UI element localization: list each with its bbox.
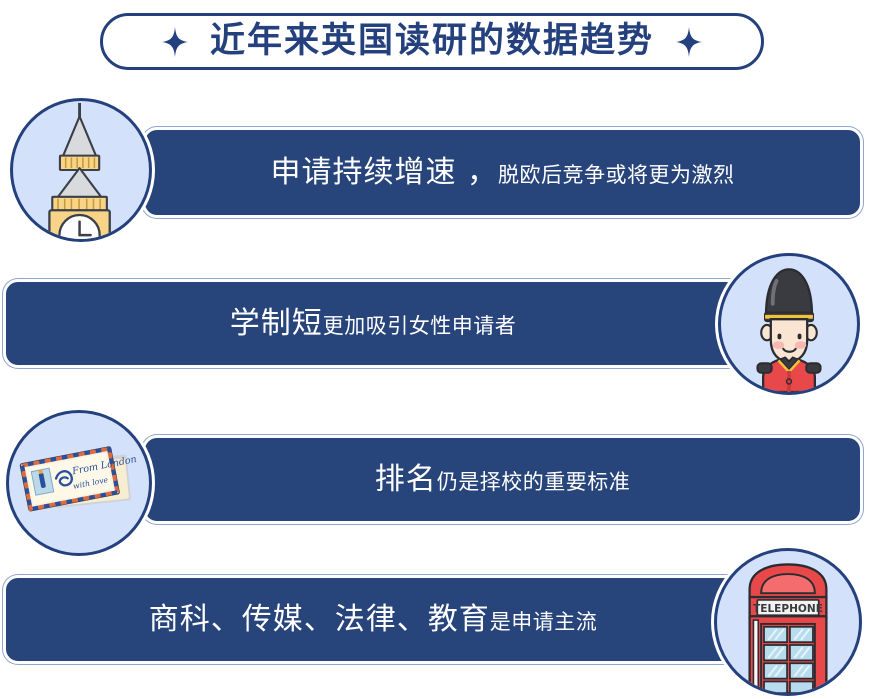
info-bar-subtext: 仍是择校的重要标准 [437, 472, 631, 493]
info-bar: 排名 仍是择校的重要标准 [145, 438, 860, 521]
info-bar: 申请持续增速 ， 脱欧后竞争或将更为激烈 [145, 130, 860, 215]
info-bar-text: 学制短 更加吸引女性申请者 [230, 309, 517, 339]
info-row: 商科、传媒、法律、教育 是申请主流 TELEPHONE [0, 548, 870, 699]
info-row: 学制短 更加吸引女性申请者 [0, 253, 870, 395]
page-title: 近年来英国读研的数据趋势 [210, 24, 654, 59]
telephone-booth-icon: TELEPHONE [714, 548, 862, 696]
info-row: 申请持续增速 ， 脱欧后竞争或将更为激烈 [0, 95, 870, 245]
royal-guard-icon [718, 253, 860, 395]
airmail-envelope-illustration: From London with love [9, 413, 149, 553]
sparkle-icon [676, 27, 702, 57]
info-bar-headline: 商科、传媒、法律、教育 [149, 605, 490, 635]
big-ben-illustration [13, 101, 149, 239]
info-bar-text: 排名 仍是择校的重要标准 [375, 465, 631, 495]
info-bar-headline: 学制短 [230, 309, 323, 339]
info-bar-text: 申请持续增速 ， 脱欧后竞争或将更为激烈 [270, 158, 734, 188]
sparkle-icon [162, 27, 188, 57]
info-bar-subtext: 更加吸引女性申请者 [323, 316, 517, 337]
info-bar: 商科、传媒、法律、教育 是申请主流 [6, 578, 740, 661]
royal-guard-illustration [721, 256, 857, 392]
airmail-envelope-icon: From London with love [6, 410, 152, 556]
info-bar-text: 商科、传媒、法律、教育 是申请主流 [149, 605, 598, 635]
info-bar-subtext: 脱欧后竞争或将更为激烈 [498, 165, 735, 186]
info-bar: 学制短 更加吸引女性申请者 [6, 282, 740, 365]
info-bar-headline: 排名 [375, 465, 437, 495]
big-ben-icon [10, 98, 152, 242]
info-row: From London with love 排名 仍是择校的重要标准 [0, 408, 870, 556]
info-bar-subtext: 是申请主流 [490, 612, 598, 633]
page-title-badge: 近年来英国读研的数据趋势 [100, 13, 764, 70]
info-bar-headline: 申请持续增速 ， [270, 158, 498, 188]
telephone-booth-illustration: TELEPHONE [717, 551, 859, 693]
telephone-sign-text: TELEPHONE [753, 603, 823, 615]
